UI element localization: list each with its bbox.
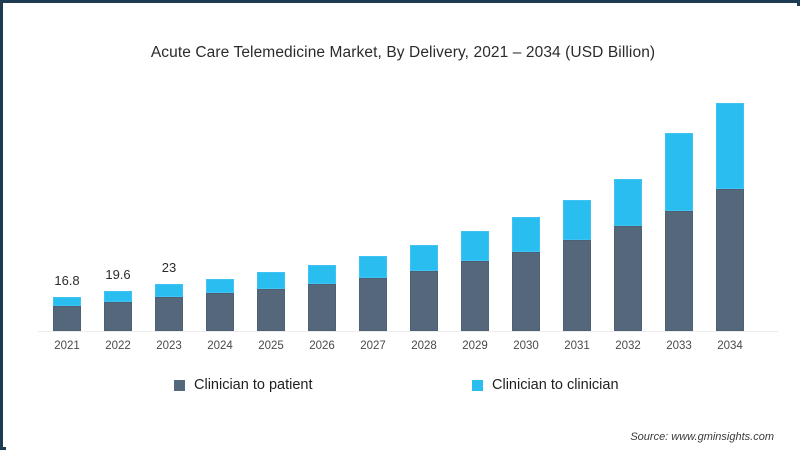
bar-segment-clinician-to-clinician <box>410 245 438 271</box>
bar-segment-clinician-to-patient <box>308 284 336 331</box>
bar-segment-clinician-to-patient <box>461 261 489 331</box>
bar-segment-clinician-to-clinician <box>206 279 234 293</box>
bar-value-label-2023: 23 <box>134 260 204 275</box>
bar-2027 <box>359 256 387 331</box>
bar-segment-clinician-to-clinician <box>308 265 336 284</box>
bar-segment-clinician-to-clinician <box>614 179 642 226</box>
bar-2023: 23 <box>155 284 183 331</box>
bar-segment-clinician-to-clinician <box>716 103 744 189</box>
bar-2030 <box>512 217 540 331</box>
bar-segment-clinician-to-clinician <box>665 133 693 211</box>
chart-legend: Clinician to patientClinician to clinici… <box>6 377 800 399</box>
bar-segment-clinician-to-patient <box>665 211 693 331</box>
legend-swatch-icon <box>174 380 185 391</box>
bar-2033 <box>665 133 693 331</box>
bar-2032 <box>614 179 642 331</box>
chart-canvas: Acute Care Telemedicine Market, By Deliv… <box>6 6 800 450</box>
bar-2024 <box>206 279 234 331</box>
bar-segment-clinician-to-patient <box>359 278 387 331</box>
bar-segment-clinician-to-patient <box>410 271 438 331</box>
chart-title: Acute Care Telemedicine Market, By Deliv… <box>6 44 800 62</box>
bar-2034 <box>716 103 744 331</box>
x-axis-label-2034: 2034 <box>700 340 760 352</box>
bar-segment-clinician-to-patient <box>53 306 81 331</box>
legend-label: Clinician to clinician <box>492 377 619 393</box>
bar-segment-clinician-to-patient <box>104 302 132 331</box>
bar-2025 <box>257 272 285 331</box>
bar-segment-clinician-to-clinician <box>512 217 540 252</box>
x-axis-line <box>38 331 778 332</box>
bar-segment-clinician-to-patient <box>716 189 744 331</box>
legend-swatch-icon <box>472 380 483 391</box>
bar-2021: 16.8 <box>53 297 81 331</box>
chart-frame: Acute Care Telemedicine Market, By Deliv… <box>0 0 800 450</box>
bar-segment-clinician-to-clinician <box>155 284 183 297</box>
bar-segment-clinician-to-clinician <box>104 291 132 302</box>
bar-2031 <box>563 200 591 331</box>
bar-segment-clinician-to-patient <box>614 226 642 331</box>
bar-2029 <box>461 231 489 331</box>
bar-segment-clinician-to-clinician <box>53 297 81 306</box>
bar-segment-clinician-to-patient <box>155 297 183 331</box>
bar-segment-clinician-to-patient <box>563 240 591 331</box>
source-attribution: Source: www.gminsights.com <box>630 431 774 443</box>
legend-label: Clinician to patient <box>194 377 313 393</box>
bar-segment-clinician-to-patient <box>206 293 234 331</box>
bar-segment-clinician-to-patient <box>512 252 540 331</box>
bar-2028 <box>410 245 438 331</box>
bar-segment-clinician-to-clinician <box>461 231 489 261</box>
bar-segment-clinician-to-clinician <box>359 256 387 278</box>
legend-item-clinician-to-clinician[interactable]: Clinician to clinician <box>472 377 619 393</box>
bar-segment-clinician-to-patient <box>257 289 285 331</box>
bar-segment-clinician-to-clinician <box>257 272 285 289</box>
bar-2026 <box>308 265 336 331</box>
bar-segment-clinician-to-clinician <box>563 200 591 240</box>
bar-2022: 19.6 <box>104 291 132 331</box>
legend-item-clinician-to-patient[interactable]: Clinician to patient <box>174 377 313 393</box>
